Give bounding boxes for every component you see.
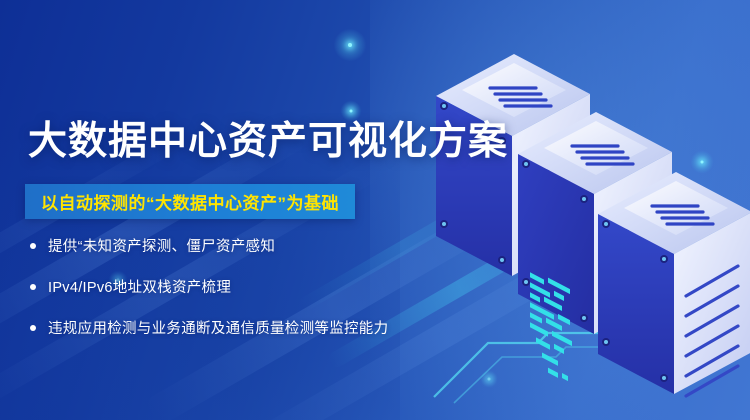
bullet-dot-icon	[30, 243, 36, 249]
list-item: IPv4/IPv6地址双栈资产梳理	[30, 276, 388, 297]
server-rack-c	[598, 172, 750, 396]
bullet-dot-icon	[30, 325, 36, 331]
text-content: 大数据中心资产可视化方案 以自动探测的“大数据中心资产”为基础 提供“未知资产探…	[0, 0, 470, 420]
bullet-dot-icon	[30, 284, 36, 290]
banner: 大数据中心资产可视化方案 以自动探测的“大数据中心资产”为基础 提供“未知资产探…	[0, 0, 750, 420]
list-item-label: 提供“未知资产探测、僵尸资产感知	[48, 235, 275, 256]
page-title: 大数据中心资产可视化方案	[28, 122, 508, 163]
list-item-label: 违规应用检测与业务通断及通信质量检测等监控能力	[48, 317, 388, 338]
subtitle-badge: 以自动探测的“大数据中心资产”为基础	[25, 184, 355, 219]
subtitle-badge-label: 以自动探测的“大数据中心资产”为基础	[41, 189, 339, 214]
list-item: 违规应用检测与业务通断及通信质量检测等监控能力	[30, 317, 388, 338]
feature-list: 提供“未知资产探测、僵尸资产感知 IPv4/IPv6地址双栈资产梳理 违规应用检…	[30, 235, 388, 358]
list-item: 提供“未知资产探测、僵尸资产感知	[30, 235, 388, 256]
list-item-label: IPv4/IPv6地址双栈资产梳理	[48, 276, 231, 297]
